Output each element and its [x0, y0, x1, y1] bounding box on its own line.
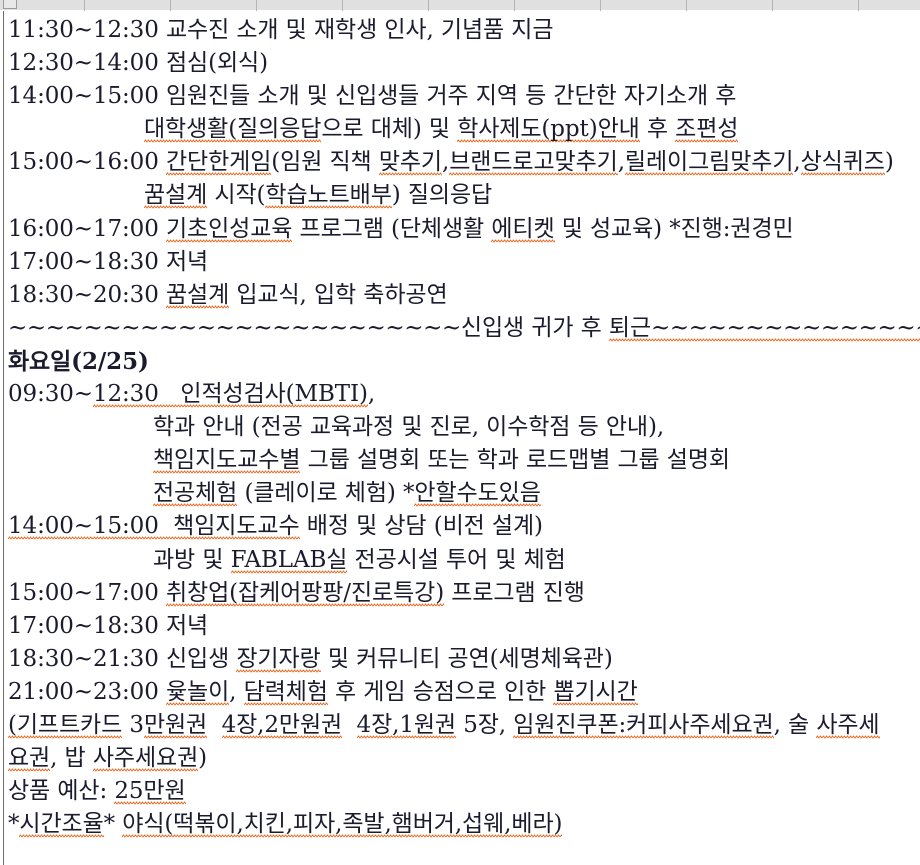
- text-line[interactable]: 15:00~17:00 취창업(잡케어팡팡/진로특강) 프로그램 진행: [8, 577, 920, 610]
- text-run: 17:00~18:30: [8, 249, 166, 275]
- text-line[interactable]: 12:30~14:00 점심(외식): [8, 47, 920, 80]
- spellcheck-flagged-text: 취창업(잡케어팡팡/진로특강): [166, 580, 444, 608]
- left-text-boundary-rule: [3, 11, 4, 865]
- ruler-tick-1: [170, 0, 171, 11]
- ruler-tick-4: [428, 0, 429, 11]
- spellcheck-flagged-text: 요권: [8, 745, 50, 773]
- text-line[interactable]: 17:00~18:30 저녁: [8, 246, 920, 279]
- ruler-tick-3: [342, 0, 343, 11]
- spellcheck-flagged-text: 기초인성교육: [166, 216, 292, 244]
- spellcheck-flagged-text: 간단한게임: [166, 149, 271, 177]
- spellcheck-flagged-text: 15:00 책임지도교수: [93, 513, 300, 541]
- ruler-tick-2: [256, 0, 257, 11]
- text-run: 18:30~21:30: [8, 646, 166, 672]
- text-run: 후 게임 승점으로 인한: [328, 679, 554, 705]
- text-run: 학과 안내 (전공 교육과정 및 진로, 이수학점 등 안내),: [153, 414, 664, 440]
- spellcheck-flagged-text: 학사제도(ppt)안내: [457, 116, 640, 144]
- text-run: 5장,: [456, 712, 513, 738]
- text-line[interactable]: ~~~~~~~~~~~~~~~~~~~~~~~~신입생 귀가 후 퇴근~~~~~…: [8, 312, 920, 345]
- text-run: 신입생: [166, 646, 236, 672]
- ruler-tick-6: [600, 0, 601, 11]
- ruler-tick-8: [772, 0, 773, 11]
- ruler-tick-0: [84, 0, 85, 11]
- text-line[interactable]: (기프트카드 3만원권 4장,2만원권 4장,1원권 5장, 임원진쿠폰:커피사…: [8, 709, 920, 742]
- spellcheck-flagged-text: 윷놀이: [166, 679, 229, 707]
- ruler-tick-5: [514, 0, 515, 11]
- spellcheck-flagged-text: 릴레이그림맞추기: [625, 149, 793, 177]
- text-run: 시작(: [207, 182, 265, 208]
- text-run: [342, 712, 356, 738]
- text-run: *: [104, 811, 123, 837]
- text-run: 상품 예산:: [8, 778, 114, 804]
- horizontal-ruler[interactable]: [0, 0, 920, 11]
- spellcheck-flagged-text: 브랜드로고맞추기: [449, 149, 617, 177]
- text-line[interactable]: 책임지도교수별 그룹 설명회 또는 학과 로드맵별 그룹 설명회: [8, 444, 920, 477]
- text-line[interactable]: 꿈설계 시작(학습노트배부) 질의응답: [8, 179, 920, 212]
- text-line[interactable]: 14:00~15:00 임원진들 소개 및 신입생들 거주 지역 등 간단한 자…: [8, 80, 920, 113]
- spellcheck-flagged-text: 뽑기시간: [553, 679, 637, 707]
- text-run: 15:00~17:00: [8, 580, 166, 606]
- text-run: 17:00~18:30: [8, 613, 166, 639]
- spellcheck-flagged-text: FABLAB실: [231, 547, 348, 575]
- text-run: 프로그램 진행: [444, 580, 585, 606]
- text-run: (클레이로 체험) *: [237, 480, 414, 506]
- text-line[interactable]: 요권, 밥 사주세요권): [8, 742, 920, 775]
- text-run: ,: [368, 381, 375, 407]
- spellcheck-flagged-text: 꿈설계: [166, 282, 229, 310]
- spellcheck-flagged-text: 만원권: [144, 712, 207, 740]
- spellcheck-flagged-text: 학습노트배부: [265, 182, 391, 210]
- text-line[interactable]: 17:00~18:30 저녁: [8, 610, 920, 643]
- text-run: ,: [793, 149, 800, 175]
- spellcheck-flagged-text: 임원진쿠폰:커피사주세요권: [513, 712, 773, 740]
- text-line[interactable]: 15:00~16:00 간단한게임(임원 직책 맞추기,브랜드로고맞추기,릴레이…: [8, 146, 920, 179]
- text-run: (임원 직책: [271, 149, 379, 175]
- text-run: ): [885, 149, 894, 175]
- text-line[interactable]: 21:00~23:00 윷놀이, 담력체험 후 게임 승점으로 인한 뽑기시간: [8, 676, 920, 709]
- spellcheck-flagged-text: 사주세: [816, 712, 879, 740]
- text-run: 및 커뮤니티 공연(세명체육관): [321, 646, 613, 672]
- text-line[interactable]: 09:30~12:30 인적성검사(MBTI),: [8, 378, 920, 411]
- spellcheck-flagged-text: 상식퀴즈: [801, 149, 885, 177]
- text-run: 입교식, 입학 축하공연: [229, 282, 447, 308]
- spellcheck-flagged-text: 책임지도교수별: [153, 447, 300, 475]
- text-run: 15:00~16:00: [8, 149, 166, 175]
- spellcheck-flagged-text: (질의응답: [228, 116, 321, 144]
- spellcheck-flagged-text: 조편성: [675, 116, 738, 144]
- ruler-tick-7: [686, 0, 687, 11]
- text-line[interactable]: 전공체험 (클레이로 체험) *안할수도있음: [8, 477, 920, 510]
- text-run: 14:00~15:00: [8, 83, 166, 109]
- text-run: 배정 및 상담 (비전 설계): [300, 513, 543, 539]
- spellcheck-flagged-text: 전공체험: [153, 480, 237, 508]
- text-line[interactable]: 대학생활(질의응답으로 대체) 및 학사제도(ppt)안내 후 조편성: [8, 113, 920, 146]
- text-run: ~~~~~~~~~~~~~~~~~~~~~~~~: [8, 315, 461, 341]
- text-run: 3: [122, 712, 144, 738]
- spellcheck-flagged-text: 4장,1원권: [357, 712, 456, 740]
- text-run: 16:00~17:00: [8, 216, 166, 242]
- text-line[interactable]: 14:00~15:00 책임지도교수 배정 및 상담 (비전 설계): [8, 510, 920, 543]
- text-run: 과방 및: [153, 547, 231, 573]
- text-run: 점심(외식): [166, 50, 268, 76]
- text-line[interactable]: 18:30~20:30 꿈설계 입교식, 입학 축하공연: [8, 279, 920, 312]
- text-run: 교수진 소개 및 재학생 인사, 기념품 지금: [166, 17, 553, 43]
- text-run: ,: [229, 679, 243, 705]
- text-run: ,: [618, 149, 625, 175]
- text-run: 으로 대체) 및: [321, 116, 457, 142]
- document-page[interactable]: 11:30~12:30 교수진 소개 및 재학생 인사, 기념품 지금12:30…: [0, 11, 920, 865]
- spellcheck-flagged-text: 사주세요권: [93, 745, 198, 773]
- text-line[interactable]: *시간조율* 야식(떡볶이,치킨,피자,족발,햄버거,섭웨,베라): [8, 808, 920, 841]
- document-text-body[interactable]: 11:30~12:30 교수진 소개 및 재학생 인사, 기념품 지금12:30…: [8, 14, 920, 841]
- text-line[interactable]: 화요일(2/25): [8, 345, 920, 378]
- text-run: 후: [640, 116, 675, 142]
- spellcheck-flagged-text: 꿈설계: [144, 182, 207, 210]
- text-run: *: [8, 811, 19, 837]
- spellcheck-flagged-text: 에티켓: [491, 216, 554, 244]
- spellcheck-flagged-text: 담력체험: [244, 679, 328, 707]
- spellcheck-flagged-text: 맞추기: [379, 149, 442, 177]
- text-run: 저녁: [166, 613, 208, 639]
- text-line[interactable]: 18:30~21:30 신입생 장기자랑 및 커뮤니티 공연(세명체육관): [8, 643, 920, 676]
- spellcheck-flagged-text: 25만원: [114, 778, 185, 806]
- spellcheck-flagged-text: ~~~~~~~~~~~~~~~~~~~~~~~: [651, 315, 920, 343]
- spellcheck-flagged-text: 안할수도있음: [414, 480, 540, 508]
- text-run: , 밥: [50, 745, 93, 771]
- text-run: 18:30~20:30: [8, 282, 166, 308]
- text-line[interactable]: 학과 안내 (전공 교육과정 및 진로, 이수학점 등 안내),: [8, 411, 920, 444]
- text-run: 11:30~12:30: [8, 17, 166, 43]
- spellcheck-flagged-text: 4장,2만원권: [222, 712, 343, 740]
- ruler-tick-9: [858, 0, 859, 11]
- text-run: ) 질의응답: [392, 182, 492, 208]
- text-run: 전공시설 투어 및 체험: [347, 547, 565, 573]
- spellcheck-flagged-text: 장기자랑: [236, 646, 320, 674]
- text-run: 및 성교육) *진행:권경민: [555, 216, 794, 242]
- text-line[interactable]: 과방 및 FABLAB실 전공시설 투어 및 체험: [8, 544, 920, 577]
- text-run: 12:30~14:00: [8, 50, 166, 76]
- text-line[interactable]: 11:30~12:30 교수진 소개 및 재학생 인사, 기념품 지금: [8, 14, 920, 47]
- spellcheck-flagged-text: 퇴근: [609, 315, 651, 343]
- text-run: [207, 712, 221, 738]
- spellcheck-flagged-text: 12:30 인적성검사(MBTI): [93, 381, 368, 409]
- text-run: 프로그램 (단체생활: [292, 216, 491, 242]
- left-indent-marker[interactable]: [3, 0, 17, 9]
- text-line[interactable]: 16:00~17:00 기초인성교육 프로그램 (단체생활 에티켓 및 성교육)…: [8, 213, 920, 246]
- text-run: , 술: [774, 712, 817, 738]
- spellcheck-flagged-text: 14:00~: [8, 513, 93, 541]
- text-run: 09:30~: [8, 381, 93, 407]
- text-line[interactable]: 상품 예산: 25만원: [8, 775, 920, 808]
- spellcheck-flagged-text: (기프트카드: [8, 712, 122, 740]
- spellcheck-flagged-text: 대학생활: [144, 116, 228, 144]
- text-run: 저녁: [166, 249, 208, 275]
- text-run: ): [198, 745, 207, 771]
- text-run: 그룹 설명회 또는 학과 로드맵별 그룹 설명회: [300, 447, 730, 473]
- spellcheck-flagged-text: 야식(떡볶이,치킨,피자,족발,햄버거,섭웨,베라): [122, 811, 562, 839]
- text-run: 화요일(2/25): [8, 348, 149, 375]
- text-run: 신입생 귀가 후: [461, 315, 609, 341]
- text-run: 21:00~23:00: [8, 679, 166, 705]
- text-run: 임원진들 소개 및 신입생들 거주 지역 등 간단한 자기소개 후: [166, 83, 736, 109]
- spellcheck-flagged-text: 시간조율: [19, 811, 103, 839]
